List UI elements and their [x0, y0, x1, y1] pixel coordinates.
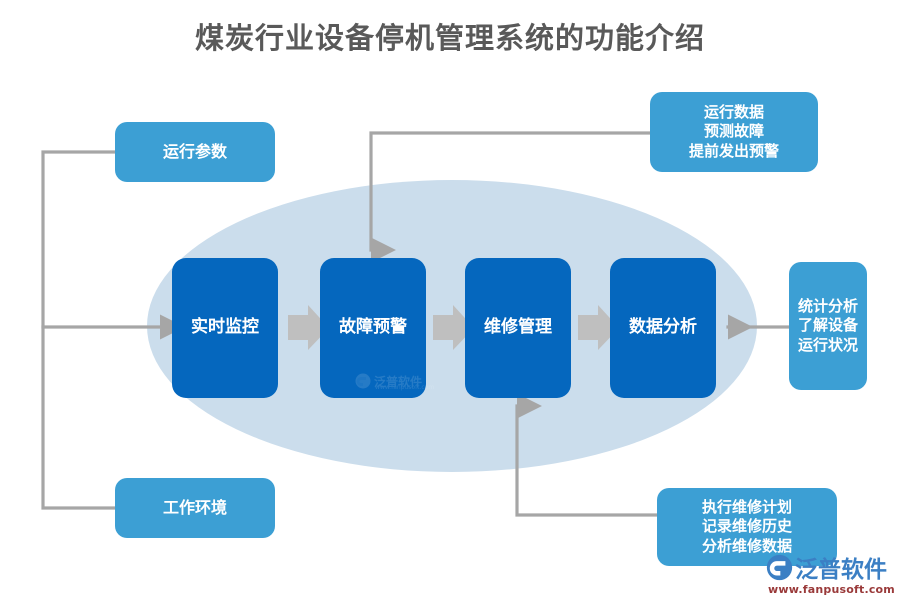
callout-maintenance-line-1: 执行维修计划 — [702, 498, 792, 517]
input-node-operating-parameters[interactable]: 运行参数 — [115, 122, 275, 182]
callout-statistics-line-1: 统计分析 — [798, 297, 858, 316]
flow-node-data-analysis[interactable]: 数据分析 — [610, 258, 716, 398]
callout-statistics-line-2: 了解设备 — [798, 316, 858, 335]
diagram-canvas: 煤炭行业设备停机管理系统的功能介绍 运行参数 工作环境 运行数据 预测故障 提前… — [0, 0, 900, 600]
callout-statistics-line-3: 运行状况 — [798, 336, 858, 355]
flow-node-maintenance-management[interactable]: 维修管理 — [465, 258, 571, 398]
input-node-working-environment-label: 工作环境 — [163, 498, 227, 518]
callout-maintenance-line-3: 分析维修数据 — [702, 537, 792, 556]
callout-statistics[interactable]: 统计分析 了解设备 运行状况 — [789, 262, 867, 390]
page-title: 煤炭行业设备停机管理系统的功能介绍 — [0, 18, 900, 58]
callout-maintenance-line-2: 记录维修历史 — [702, 517, 792, 536]
flow-node-fault-warning[interactable]: 故障预警 — [320, 258, 426, 398]
callout-fault-prediction-line-3: 提前发出预警 — [689, 142, 779, 161]
flow-node-fault-warning-label: 故障预警 — [339, 317, 407, 339]
callout-fault-prediction[interactable]: 运行数据 预测故障 提前发出预警 — [650, 92, 818, 172]
input-node-operating-parameters-label: 运行参数 — [163, 142, 227, 162]
callout-fault-prediction-line-1: 运行数据 — [689, 103, 779, 122]
flow-node-maintenance-management-label: 维修管理 — [484, 317, 552, 339]
flow-node-realtime-monitoring-label: 实时监控 — [191, 317, 259, 339]
flow-node-realtime-monitoring[interactable]: 实时监控 — [172, 258, 278, 398]
input-node-working-environment[interactable]: 工作环境 — [115, 478, 275, 538]
callout-fault-prediction-line-2: 预测故障 — [689, 122, 779, 141]
flow-node-data-analysis-label: 数据分析 — [629, 317, 697, 339]
connector-inputs-to-realtime — [43, 152, 160, 508]
callout-maintenance[interactable]: 执行维修计划 记录维修历史 分析维修数据 — [657, 488, 837, 566]
